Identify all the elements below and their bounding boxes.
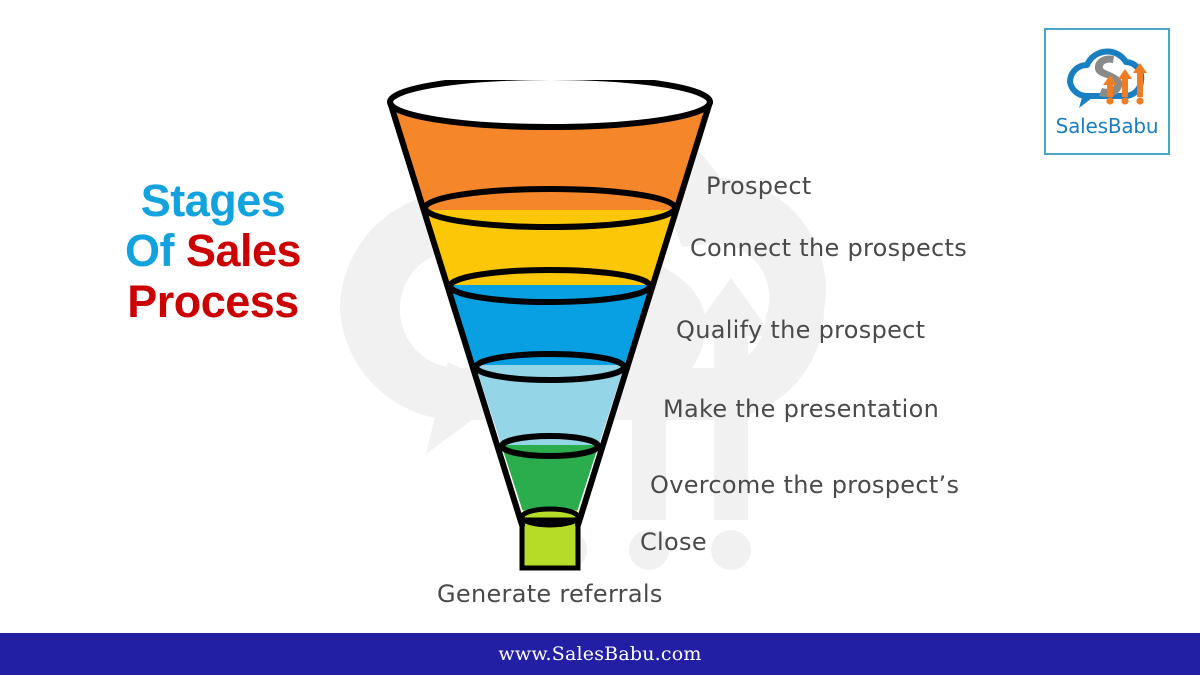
title-line-3: Process <box>78 277 348 327</box>
footer-bar: www.SalesBabu.com <box>0 633 1200 675</box>
page-title: Stages Of Sales Process <box>78 176 348 327</box>
logo-wordmark: SalesBabu <box>1046 114 1168 138</box>
stage-label-connect: Connect the prospects <box>690 234 967 262</box>
funnel-band-connect <box>370 210 730 285</box>
title-line-2: Of Sales <box>78 226 348 276</box>
title-process-word: Process <box>127 276 299 327</box>
stage-label-referrals: Generate referrals <box>437 580 663 608</box>
title-of-word: Of <box>125 225 186 276</box>
salesbabu-cloud-icon <box>1052 36 1164 114</box>
title-stages-word: Stages <box>141 175 286 226</box>
stage-label-present: Make the presentation <box>663 395 939 423</box>
slide-canvas: Stages Of Sales Process <box>0 0 1200 675</box>
title-line-1: Stages <box>78 176 348 226</box>
footer-url[interactable]: www.SalesBabu.com <box>498 643 701 665</box>
title-sales-word: Sales <box>186 225 301 276</box>
stage-label-qualify: Qualify the prospect <box>676 316 925 344</box>
stage-label-close: Close <box>640 528 707 556</box>
stage-label-overcome: Overcome the prospect’s <box>650 471 959 499</box>
stage-label-prospect: Prospect <box>706 172 812 200</box>
salesbabu-logo-card: SalesBabu <box>1044 28 1170 155</box>
